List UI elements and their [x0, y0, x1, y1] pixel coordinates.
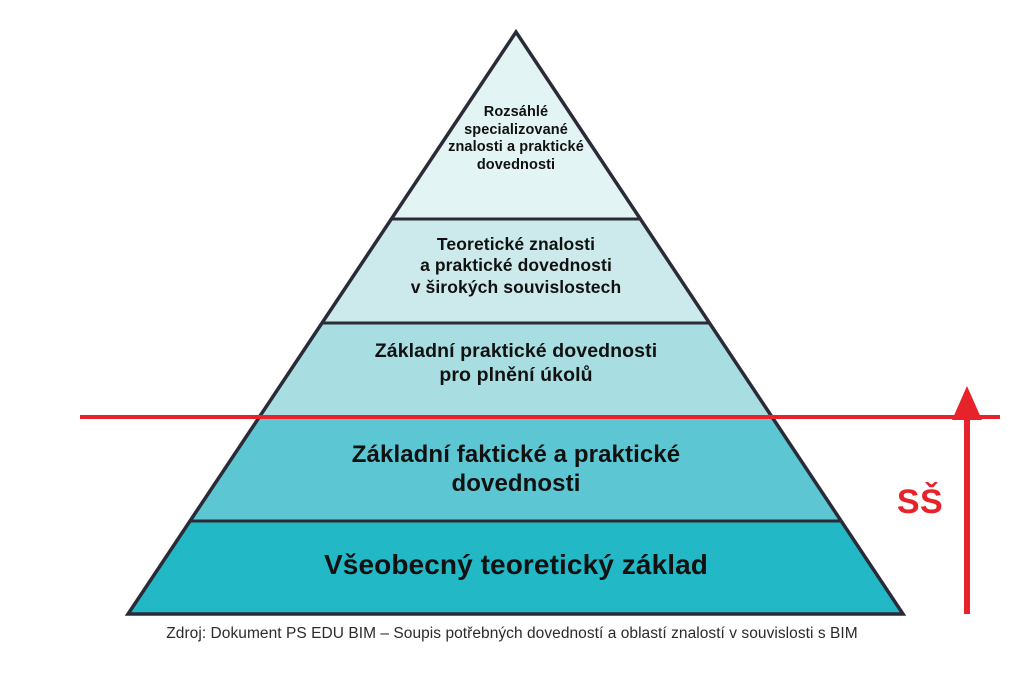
pyramid-tier-2: [0, 219, 1024, 323]
pyramid-graphic: [0, 0, 1024, 684]
diagram-canvas: Rozsáhlé specializované znalosti a prakt…: [0, 0, 1024, 684]
secondary-school-marker-label: SŠ: [884, 483, 956, 522]
marker-arrow-head: [952, 386, 982, 420]
source-caption: Zdroj: Dokument PS EDU BIM – Soupis potř…: [0, 625, 1024, 643]
pyramid-tier-1: [0, 32, 1024, 219]
pyramid-tier-3: [0, 323, 1024, 417]
pyramid-tier-4: [0, 417, 1024, 521]
